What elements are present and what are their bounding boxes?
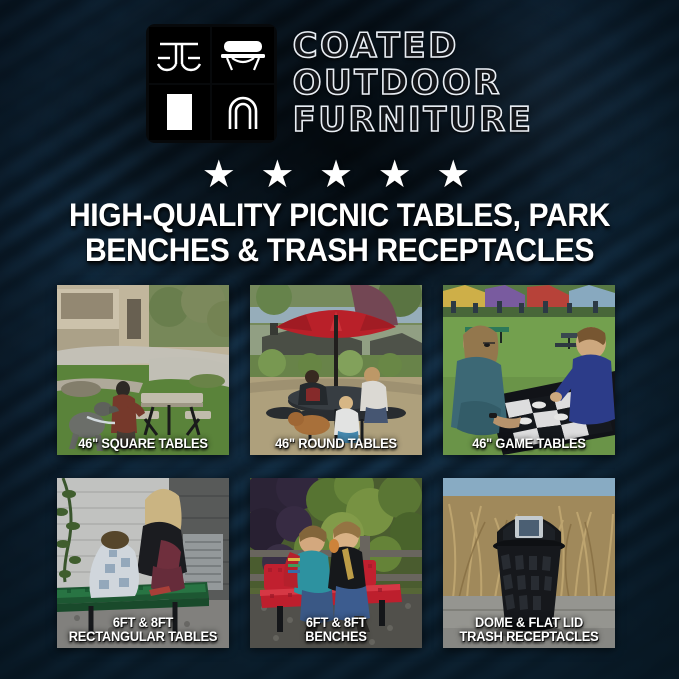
product-caption-round-tables: 46" ROUND TABLES bbox=[254, 437, 417, 451]
product-tile-rectangular-tables[interactable]: 6FT & 8FT RECTANGULAR TABLES bbox=[57, 478, 229, 648]
star-rating: ★ ★ ★ ★ ★ bbox=[0, 156, 679, 194]
bike-rack-icon bbox=[212, 85, 274, 141]
headline-line-1: HIGH-QUALITY PICNIC TABLES, PARK bbox=[20, 198, 658, 233]
brand-logo-mark bbox=[146, 24, 277, 143]
product-tile-game-tables[interactable]: 46" GAME TABLES bbox=[443, 285, 615, 455]
product-tile-round-tables[interactable]: 46" ROUND TABLES bbox=[250, 285, 422, 455]
brand-header: COATED OUTDOOR FURNITURE bbox=[0, 24, 679, 143]
product-photo-round-tables bbox=[250, 285, 422, 455]
headline-line-2: BENCHES & TRASH RECEPTACLES bbox=[20, 233, 658, 268]
picnic-table-icon bbox=[149, 27, 211, 83]
product-caption-game-tables: 46" GAME TABLES bbox=[447, 437, 610, 451]
product-grid: 46" SQUARE TABLES bbox=[57, 285, 623, 648]
brand-word-line-3: FURNITURE bbox=[293, 103, 534, 138]
page-title: HIGH-QUALITY PICNIC TABLES, PARK BENCHES… bbox=[20, 198, 658, 267]
brand-wordmark: COATED OUTDOOR FURNITURE bbox=[293, 29, 534, 137]
product-tile-trash-receptacles[interactable]: DOME & FLAT LID TRASH RECEPTACLES bbox=[443, 478, 615, 648]
product-caption-benches: 6FT & 8FT BENCHES bbox=[254, 616, 417, 644]
park-bench-icon bbox=[212, 27, 274, 83]
product-caption-square-tables: 46" SQUARE TABLES bbox=[61, 437, 224, 451]
brand-word-line-2: OUTDOOR bbox=[293, 66, 534, 101]
promo-banner: COATED OUTDOOR FURNITURE ★ ★ ★ ★ ★ HIGH-… bbox=[0, 0, 679, 679]
product-tile-square-tables[interactable]: 46" SQUARE TABLES bbox=[57, 285, 229, 455]
product-caption-rectangular-tables: 6FT & 8FT RECTANGULAR TABLES bbox=[61, 616, 224, 644]
brand-word-line-1: COATED bbox=[293, 29, 534, 64]
product-photo-square-tables bbox=[57, 285, 229, 455]
product-photo-game-tables bbox=[443, 285, 615, 455]
product-tile-benches[interactable]: 6FT & 8FT BENCHES bbox=[250, 478, 422, 648]
product-caption-trash-receptacles: DOME & FLAT LID TRASH RECEPTACLES bbox=[447, 616, 610, 644]
trash-receptacle-icon bbox=[149, 85, 211, 141]
